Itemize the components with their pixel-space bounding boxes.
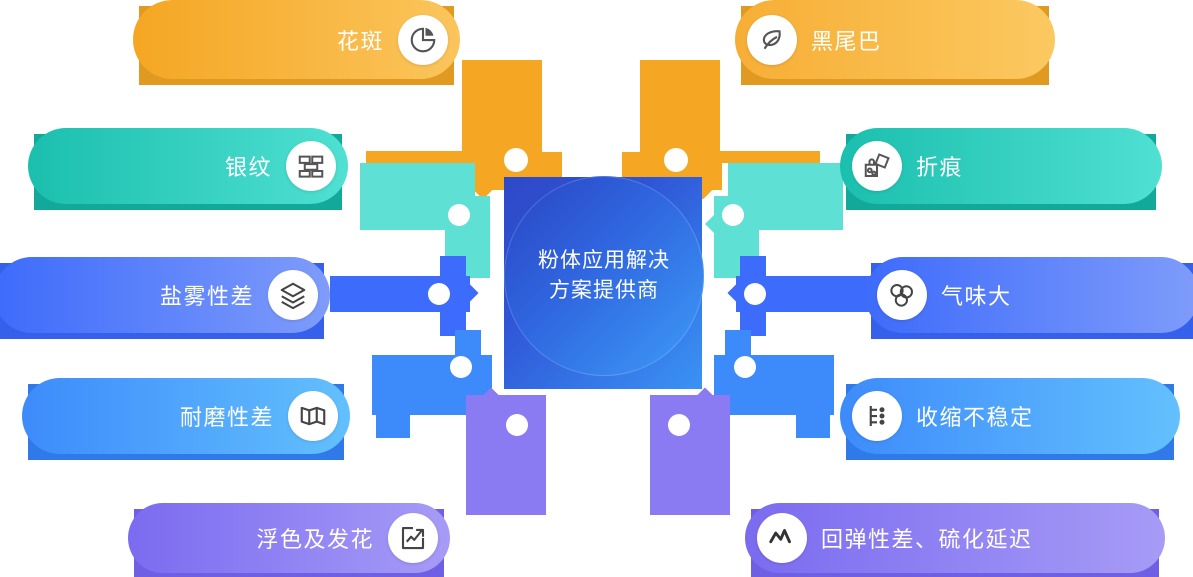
pill-label: 气味大: [941, 279, 1012, 311]
pill-label: 银纹: [225, 150, 272, 182]
center-hub-circle: [504, 176, 704, 376]
pill-naimoxingcha[interactable]: 耐磨性差: [22, 378, 350, 454]
pie-chart-icon: [398, 15, 448, 65]
open-book-icon: [288, 391, 338, 441]
pill-label: 浮色及发花: [256, 522, 374, 554]
pill-fusejifahua[interactable]: 浮色及发花: [128, 503, 450, 573]
pill-yanwuxingcha[interactable]: 盐雾性差: [0, 257, 330, 333]
recycle-icon: [877, 270, 927, 320]
puzzle-icon: [852, 141, 902, 191]
layers-icon: [268, 270, 318, 320]
pill-label: 收缩不稳定: [916, 400, 1034, 432]
pill-label: 黑尾巴: [811, 24, 882, 56]
pill-label: 耐磨性差: [180, 400, 274, 432]
pill-huitanxingcha[interactable]: 回弹性差、硫化延迟: [745, 503, 1165, 573]
pill-yinwen[interactable]: 银纹: [28, 128, 348, 204]
trend-up-icon: [388, 513, 438, 563]
pill-label: 折痕: [916, 150, 963, 182]
pill-heiweiba[interactable]: 黑尾巴: [735, 0, 1055, 79]
line-chart-icon: [757, 513, 807, 563]
brick-wall-icon: [286, 141, 336, 191]
diagram-canvas: 粉体应用解决 方案提供商 花斑 黑尾巴: [0, 0, 1193, 577]
pill-shousuobuwending[interactable]: 收缩不稳定: [840, 378, 1180, 454]
pill-qiweida[interactable]: 气味大: [865, 257, 1193, 333]
pill-label: 花斑: [337, 24, 384, 56]
pill-label: 盐雾性差: [160, 279, 254, 311]
pill-zhehen[interactable]: 折痕: [840, 128, 1162, 204]
pill-label: 回弹性差、硫化延迟: [821, 522, 1033, 554]
leaf-icon: [747, 15, 797, 65]
pill-huaban[interactable]: 花斑: [133, 0, 460, 79]
sitemap-icon: [852, 391, 902, 441]
